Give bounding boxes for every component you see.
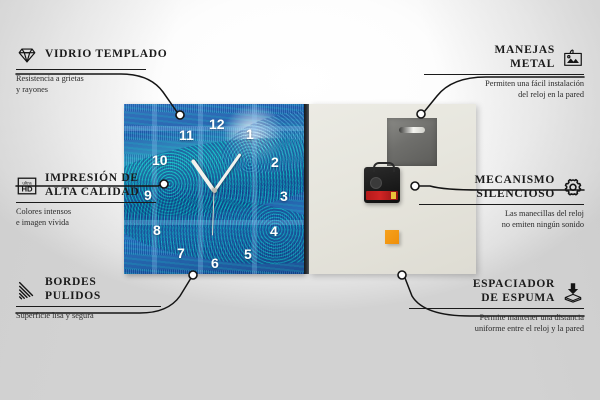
- hanger-slot: [399, 127, 425, 133]
- callout-title: MECANISMOSILENCIOSO: [475, 174, 555, 201]
- clock-numeral-12: 12: [209, 116, 225, 132]
- callout-description: Las manecillas del reloj no emiten ningú…: [419, 209, 584, 230]
- callout-header: BORDESPULIDOS: [16, 276, 161, 303]
- clock-numeral-3: 3: [280, 188, 288, 204]
- callout-title: ESPACIADORDE ESPUMA: [473, 278, 555, 305]
- callout-divider: [409, 308, 584, 309]
- polished-edges-icon: [16, 279, 38, 301]
- clock-numeral-11: 11: [179, 127, 194, 143]
- callout-description: Colores intensos e imagen vívida: [16, 207, 156, 228]
- callout-divider: [16, 306, 161, 307]
- battery-compartment: [366, 191, 398, 200]
- callout-divider: [16, 202, 156, 203]
- clock-numeral-4: 4: [270, 223, 278, 239]
- callout-divider: [424, 74, 584, 75]
- foam-spacer-pad: [385, 230, 399, 244]
- callout-header: ESPACIADORDE ESPUMA: [409, 278, 584, 305]
- callout-manejas-metal: MANEJASMETAL Permiten una fácil instalac…: [424, 44, 584, 100]
- callout-title: VIDRIO TEMPLADO: [45, 48, 167, 62]
- callout-divider: [16, 69, 146, 70]
- clock-numeral-1: 1: [246, 126, 254, 142]
- callout-mecanismo-silencioso: MECANISMOSILENCIOSO Las manecillas del r…: [419, 174, 584, 230]
- clock-numeral-2: 2: [271, 154, 279, 170]
- clock-numeral-10: 10: [152, 152, 168, 168]
- metal-hanger-plate: [387, 118, 437, 166]
- product-infographic: 12 1 2 3 4 5 6 7 8 9 10 11: [0, 0, 600, 400]
- callout-header: MECANISMOSILENCIOSO: [419, 174, 584, 201]
- callout-title: MANEJASMETAL: [495, 44, 556, 71]
- callout-espaciador-espuma: ESPACIADORDE ESPUMA Permite mantener una…: [409, 278, 584, 334]
- clock-numeral-6: 6: [211, 255, 219, 271]
- callout-header: VIDRIO TEMPLADO: [16, 44, 146, 66]
- wall-hanger-icon: [562, 47, 584, 69]
- callout-description: Permiten una fácil instalación del reloj…: [424, 79, 584, 100]
- clock-mechanism: [364, 167, 400, 203]
- callout-title: IMPRESIÓN DEALTA CALIDAD: [45, 172, 139, 199]
- battery-terminal: [391, 192, 396, 199]
- mechanism-setting-dial: [370, 177, 382, 189]
- callout-header: ultra HD IMPRESIÓN DEALTA CALIDAD: [16, 172, 156, 199]
- svg-text:HD: HD: [21, 184, 33, 193]
- diamond-icon: [16, 44, 38, 66]
- callout-title: BORDESPULIDOS: [45, 276, 101, 303]
- gear-icon: [562, 177, 584, 199]
- callout-impresion-alta-calidad: ultra HD IMPRESIÓN DEALTA CALIDAD Colore…: [16, 172, 156, 228]
- callout-description: Permite mantener una distancia uniforme …: [409, 313, 584, 334]
- callout-description: Superficie lisa y segura: [16, 311, 161, 322]
- callout-description: Resistencia a grietas y rayones: [16, 74, 146, 95]
- callout-header: MANEJASMETAL: [424, 44, 584, 71]
- clock-numeral-5: 5: [244, 246, 252, 262]
- callout-divider: [419, 204, 584, 205]
- mechanism-hanging-loop: [373, 162, 395, 172]
- foam-spacer-icon: [562, 281, 584, 303]
- callout-vidrio-templado: VIDRIO TEMPLADO Resistencia a grietas y …: [16, 44, 146, 95]
- clock-center-pin: [212, 188, 217, 193]
- clock-numeral-7: 7: [177, 245, 185, 261]
- ultra-hd-icon: ultra HD: [16, 175, 38, 197]
- callout-bordes-pulidos: BORDESPULIDOS Superficie lisa y segura: [16, 276, 161, 322]
